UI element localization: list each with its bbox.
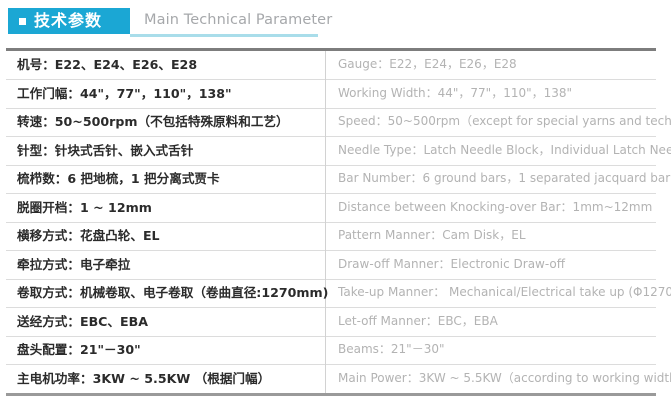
spec-cell-en: Speed：50~500rpm（except for special yarns…: [326, 108, 657, 137]
spec-cell-en: Bar Number：6 ground bars，1 separated jac…: [326, 165, 657, 194]
spec-cell-en: Let-off Manner：EBC，EBA: [326, 308, 657, 337]
spec-cell-cn: 脱圈开档：1 ~ 12mm: [6, 194, 326, 223]
spec-cell-cn: 工作门幅：44"，77"，110"，138": [6, 80, 326, 109]
spec-table-body: 机号：E22、E24、E26、E28 Gauge：E22，E24，E26，E28…: [6, 51, 656, 393]
table-row: 横移方式：花盘凸轮、EL Pattern Manner：Cam Disk，EL: [6, 222, 656, 251]
spec-cell-cn: 牵拉方式：电子牵拉: [6, 251, 326, 280]
spec-cell-en: Draw-off Manner：Electronic Draw-off: [326, 251, 657, 280]
table-row: 工作门幅：44"，77"，110"，138" Working Width：44"…: [6, 80, 656, 109]
spec-cell-en: Working Width：44"，77"，110"，138": [326, 80, 657, 109]
spec-cell-cn: 卷取方式：机械卷取、电子卷取（卷曲直径:1270mm): [6, 279, 326, 308]
section-header: 技术参数 Main Technical Parameter: [0, 0, 671, 44]
spec-cell-en: Pattern Manner：Cam Disk，EL: [326, 222, 657, 251]
spec-cell-cn: 转速：50~500rpm（不包括特殊原料和工艺）: [6, 108, 326, 137]
spec-cell-en: Distance between Knocking-over Bar：1mm~1…: [326, 194, 657, 223]
table-row: 盘头配置：21"－30" Beams：21"－30": [6, 336, 656, 365]
table-row: 主电机功率：3KW ~ 5.5KW （根据门幅） Main Power：3KW …: [6, 365, 656, 394]
spec-cell-cn: 盘头配置：21"－30": [6, 336, 326, 365]
section-title-cn: 技术参数: [34, 13, 102, 29]
spec-cell-en: Main Power：3KW ~ 5.5KW（according to work…: [326, 365, 657, 394]
spec-table: 机号：E22、E24、E26、E28 Gauge：E22，E24，E26，E28…: [6, 51, 656, 393]
spec-cell-cn: 横移方式：花盘凸轮、EL: [6, 222, 326, 251]
table-row: 脱圈开档：1 ~ 12mm Distance between Knocking-…: [6, 194, 656, 223]
spec-cell-en: Gauge：E22，E24，E26，E28: [326, 51, 657, 80]
table-row: 送经方式：EBC、EBA Let-off Manner：EBC，EBA: [6, 308, 656, 337]
header-underline: [130, 34, 318, 37]
table-row: 卷取方式：机械卷取、电子卷取（卷曲直径:1270mm) Take-up Mann…: [6, 279, 656, 308]
spec-cell-cn: 针型：针块式舌针、嵌入式舌针: [6, 137, 326, 166]
table-row: 梳栉数：6 把地梳，1 把分离式贾卡 Bar Number：6 ground b…: [6, 165, 656, 194]
table-row: 针型：针块式舌针、嵌入式舌针 Needle Type：Latch Needle …: [6, 137, 656, 166]
spec-cell-cn: 机号：E22、E24、E26、E28: [6, 51, 326, 80]
spec-cell-en: Take-up Manner： Mechanical/Electrical ta…: [326, 279, 657, 308]
technical-parameter-page: 技术参数 Main Technical Parameter 机号：E22、E24…: [0, 0, 671, 406]
section-title-en: Main Technical Parameter: [144, 13, 332, 28]
spec-cell-en: Beams：21"－30": [326, 336, 657, 365]
spec-cell-cn: 主电机功率：3KW ~ 5.5KW （根据门幅）: [6, 365, 326, 394]
table-row: 机号：E22、E24、E26、E28 Gauge：E22，E24，E26，E28: [6, 51, 656, 80]
spec-cell-cn: 梳栉数：6 把地梳，1 把分离式贾卡: [6, 165, 326, 194]
square-bullet-icon: [19, 18, 26, 25]
spec-cell-en: Needle Type：Latch Needle Block，Individua…: [326, 137, 657, 166]
section-title-tab: 技术参数: [8, 8, 130, 34]
spec-cell-cn: 送经方式：EBC、EBA: [6, 308, 326, 337]
table-row: 转速：50~500rpm（不包括特殊原料和工艺） Speed：50~500rpm…: [6, 108, 656, 137]
spec-table-wrapper: 机号：E22、E24、E26、E28 Gauge：E22，E24，E26，E28…: [6, 48, 656, 396]
table-row: 牵拉方式：电子牵拉 Draw-off Manner：Electronic Dra…: [6, 251, 656, 280]
